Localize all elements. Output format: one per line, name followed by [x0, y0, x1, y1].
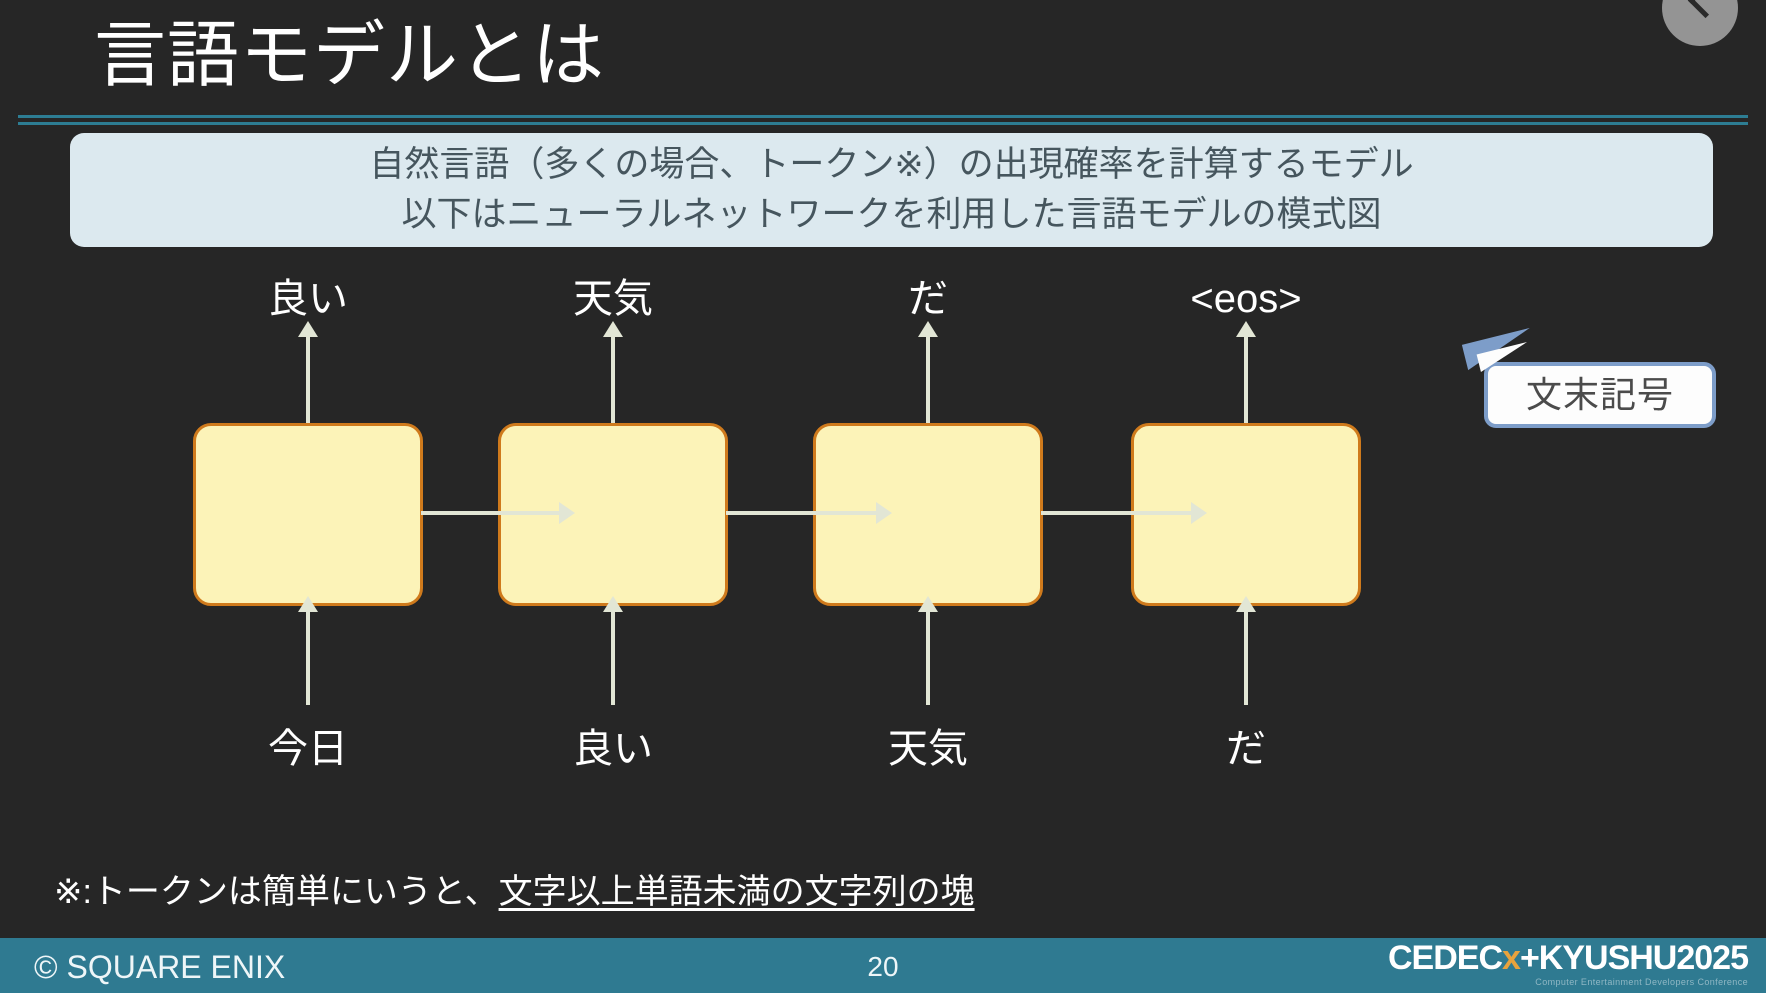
footnote-prefix: ※:トークンは簡単にいうと、 — [54, 873, 499, 911]
recurrent-arrow-3-4 — [1041, 511, 1193, 515]
arrow-head-icon — [298, 321, 318, 337]
output-arrow-2 — [611, 335, 615, 425]
arrow-head-icon — [603, 596, 623, 612]
chevron-left-icon — [1688, 0, 1723, 18]
logo-x-mark: x — [1502, 939, 1520, 977]
arrow-head-icon — [876, 502, 892, 524]
cedec-kyushu-logo: CEDECx+KYUSHU2025 Computer Entertainment… — [1388, 940, 1748, 988]
diagram-column-2: 天気 良い — [443, 255, 783, 775]
summary-line-1: 自然言語（多くの場合、トークン※）の出現確率を計算するモデル — [369, 140, 1413, 190]
arrow-head-icon — [918, 596, 938, 612]
input-token-4: だ — [1076, 725, 1416, 773]
slide-canvas: 言語モデルとは 自然言語（多くの場合、トークン※）の出現確率を計算するモデル 以… — [0, 0, 1766, 993]
logo-subtitle: Computer Entertainment Developers Confer… — [1388, 976, 1748, 988]
arrow-head-icon — [1191, 502, 1207, 524]
footnote-underlined: 文字以上単語未満の文字列の塊 — [499, 873, 975, 911]
output-arrow-1 — [306, 335, 310, 425]
input-arrow-2 — [611, 610, 615, 705]
recurrent-arrow-2-3 — [726, 511, 878, 515]
video-overlay-control[interactable] — [1662, 0, 1738, 46]
diagram-column-1: 良い 今日 — [138, 255, 478, 775]
logo-right-text: +KYUSHU2025 — [1520, 939, 1748, 977]
arrow-head-icon — [1236, 321, 1256, 337]
callout-balloon: 文末記号 — [1484, 362, 1716, 428]
input-token-3: 天気 — [758, 725, 1098, 773]
arrow-head-icon — [1236, 596, 1256, 612]
output-token-3: だ — [758, 275, 1098, 323]
slide-footer: © SQUARE ENIX 20 CEDECx+KYUSHU2025 Compu… — [0, 938, 1766, 993]
callout-label: 文末記号 — [1526, 374, 1674, 415]
input-arrow-3 — [926, 610, 930, 705]
diagram-column-4: <eos> だ — [1076, 255, 1416, 775]
logo-wordmark: CEDECx+KYUSHU2025 — [1388, 940, 1748, 976]
page-title: 言語モデルとは — [94, 8, 605, 104]
title-divider — [18, 115, 1748, 118]
output-arrow-3 — [926, 335, 930, 425]
arrow-head-icon — [298, 596, 318, 612]
input-token-1: 今日 — [138, 725, 478, 773]
recurrent-arrow-1-2 — [421, 511, 561, 515]
logo-left-text: CEDEC — [1388, 939, 1502, 977]
arrow-head-icon — [918, 321, 938, 337]
input-arrow-4 — [1244, 610, 1248, 705]
diagram-column-3: だ 天気 — [758, 255, 1098, 775]
output-token-4: <eos> — [1076, 275, 1416, 323]
summary-line-2: 以下はニューラルネットワークを利用した言語モデルの模式図 — [401, 190, 1381, 240]
arrow-head-icon — [603, 321, 623, 337]
output-token-2: 天気 — [443, 275, 783, 323]
rnn-cell-1 — [193, 423, 423, 606]
footnote: ※:トークンは簡単にいうと、文字以上単語未満の文字列の塊 — [54, 870, 975, 914]
title-divider-secondary — [18, 122, 1748, 125]
input-token-2: 良い — [443, 725, 783, 773]
input-arrow-1 — [306, 610, 310, 705]
output-token-1: 良い — [138, 275, 478, 323]
summary-box: 自然言語（多くの場合、トークン※）の出現確率を計算するモデル 以下はニューラルネ… — [70, 133, 1713, 247]
arrow-head-icon — [559, 502, 575, 524]
language-model-diagram: 良い 今日 天気 良い だ 天気 <eos> だ — [0, 255, 1766, 775]
output-arrow-4 — [1244, 335, 1248, 425]
